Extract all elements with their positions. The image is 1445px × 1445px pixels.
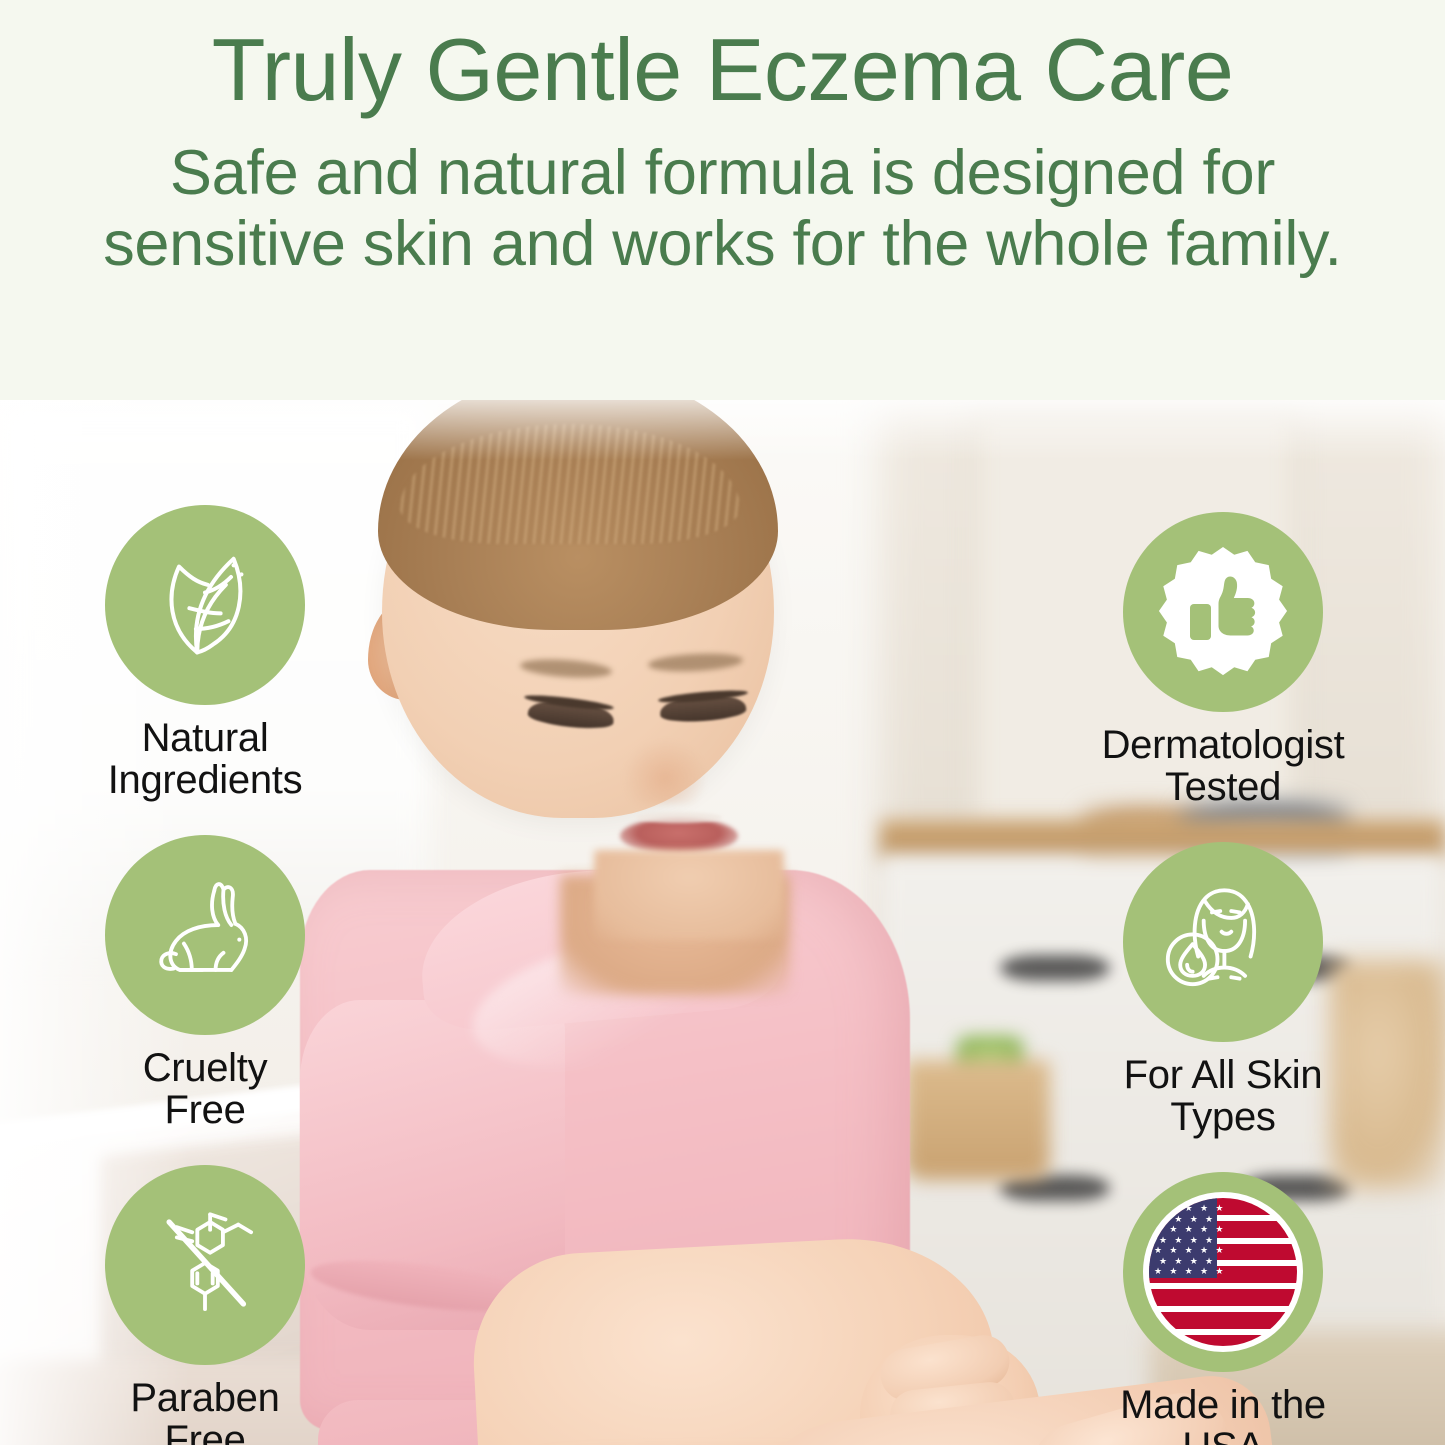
badge-label: For All Skin Types <box>1058 1054 1388 1139</box>
badge-circle <box>105 835 305 1035</box>
badge-label: Natural Ingredients <box>108 717 303 802</box>
leaf-icon <box>140 538 270 673</box>
badge-dermatologist-tested: Dermatologist Tested <box>1078 512 1368 809</box>
photo-baby-nose <box>624 740 706 804</box>
badge-paraben-free: Paraben Free <box>95 1165 315 1445</box>
badge-natural-ingredients: Natural Ingredients <box>95 505 315 802</box>
badge-circle <box>1123 842 1323 1042</box>
badge-made-in-the-usa: ★ ★ ★ ★ ★ ★ ★ ★ ★★ ★ ★ ★ ★ ★ ★ ★ ★★ ★ ★ … <box>1078 1172 1368 1445</box>
page-title: Truly Gentle Eczema Care <box>212 26 1234 114</box>
badge-circle: ★ ★ ★ ★ ★ ★ ★ ★ ★★ ★ ★ ★ ★ ★ ★ ★ ★★ ★ ★ … <box>1123 1172 1323 1372</box>
photo-baby-lip <box>636 812 722 823</box>
no-chemical-icon <box>141 1199 269 1332</box>
badge-label: Cruelty Free <box>143 1047 268 1132</box>
badge-cruelty-free: Cruelty Free <box>95 835 315 1132</box>
header-banner: Truly Gentle Eczema Care Safe and natura… <box>0 0 1445 400</box>
page-subtitle: Safe and natural formula is designed for… <box>103 138 1343 279</box>
badge-label: Paraben Free <box>130 1377 279 1445</box>
badge-circle <box>1123 512 1323 712</box>
badge-circle <box>105 505 305 705</box>
rabbit-icon <box>139 867 271 1004</box>
usa-flag-icon: ★ ★ ★ ★ ★ ★ ★ ★ ★★ ★ ★ ★ ★ ★ ★ ★ ★★ ★ ★ … <box>1143 1192 1303 1352</box>
usa-flag: ★ ★ ★ ★ ★ ★ ★ ★ ★★ ★ ★ ★ ★ ★ ★ ★ ★★ ★ ★ … <box>1149 1198 1297 1346</box>
badge-for-all-skin-types: For All Skin Types <box>1078 842 1368 1139</box>
badge-label: Dermatologist Tested <box>1058 724 1388 809</box>
photo-baby-chin <box>594 850 784 940</box>
woman-face-droplet-icon <box>1154 871 1292 1014</box>
photo-basket <box>905 1060 1050 1180</box>
badge-circle <box>105 1165 305 1365</box>
badge-label: Made in the USA <box>1058 1384 1388 1445</box>
photo-baby-mouth <box>620 818 738 854</box>
thumbs-up-badge-icon <box>1148 535 1298 690</box>
flag-stars: ★ ★ ★ ★ ★ ★ ★ ★ ★★ ★ ★ ★ ★ ★ ★ ★ ★★ ★ ★ … <box>1149 1198 1297 1346</box>
